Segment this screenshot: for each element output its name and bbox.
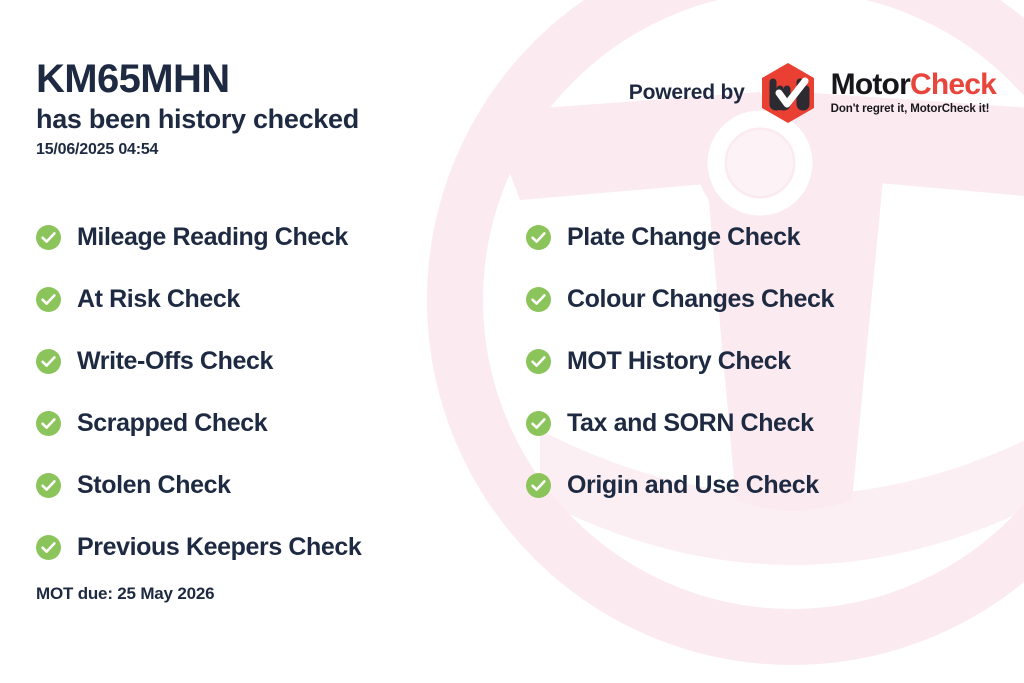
green-circle-check-icon: [36, 349, 61, 374]
list-item: Colour Changes Check: [526, 268, 986, 330]
list-item: Mileage Reading Check: [36, 206, 526, 268]
check-list-left-column: Mileage Reading Check At Risk Check Writ…: [36, 206, 526, 578]
list-item-label: Tax and SORN Check: [567, 409, 814, 438]
list-item-label: Plate Change Check: [567, 223, 800, 252]
powered-by-label: Powered by: [629, 81, 745, 105]
list-item-label: MOT History Check: [567, 347, 791, 376]
list-item-label: Mileage Reading Check: [77, 223, 348, 252]
list-item-label: At Risk Check: [77, 285, 240, 314]
check-lists: Mileage Reading Check At Risk Check Writ…: [36, 206, 988, 578]
green-circle-check-icon: [526, 473, 551, 498]
list-item: Tax and SORN Check: [526, 392, 986, 454]
list-item: Origin and Use Check: [526, 454, 986, 516]
list-item-label: Colour Changes Check: [567, 285, 834, 314]
green-circle-check-icon: [36, 225, 61, 250]
list-item-label: Origin and Use Check: [567, 471, 819, 500]
list-item: Plate Change Check: [526, 206, 986, 268]
list-item: At Risk Check: [36, 268, 526, 330]
list-item-label: Write-Offs Check: [77, 347, 273, 376]
list-item: Scrapped Check: [36, 392, 526, 454]
list-item-label: Previous Keepers Check: [77, 533, 361, 562]
list-item-label: Stolen Check: [77, 471, 231, 500]
page-title-registration: KM65MHN: [36, 58, 359, 100]
green-circle-check-icon: [526, 225, 551, 250]
list-item: Previous Keepers Check: [36, 516, 526, 578]
brand-block: Powered by MotorCheck Don't regret it, M…: [629, 62, 996, 124]
green-circle-check-icon: [526, 349, 551, 374]
wordmark-check: Check: [910, 68, 996, 101]
green-circle-check-icon: [36, 411, 61, 436]
vehicle-history-check-card: KM65MHN has been history checked 15/06/2…: [0, 0, 1024, 683]
list-item-label: Scrapped Check: [77, 409, 267, 438]
list-item: Write-Offs Check: [36, 330, 526, 392]
motorcheck-hexagon-logo-icon: [759, 62, 817, 124]
page-subtitle-status: has been history checked: [36, 104, 359, 135]
green-circle-check-icon: [526, 287, 551, 312]
green-circle-check-icon: [36, 473, 61, 498]
mot-due-label: MOT due: 25 May 2026: [36, 584, 214, 604]
motorcheck-wordmark: MotorCheck Don't regret it, MotorCheck i…: [831, 70, 996, 116]
wordmark-text: MotorCheck: [831, 70, 996, 100]
list-item: MOT History Check: [526, 330, 986, 392]
green-circle-check-icon: [526, 411, 551, 436]
check-list-right-column: Plate Change Check Colour Changes Check …: [526, 206, 986, 578]
wordmark-motor: Motor: [831, 68, 910, 101]
green-circle-check-icon: [36, 535, 61, 560]
check-timestamp: 15/06/2025 04:54: [36, 141, 359, 159]
green-circle-check-icon: [36, 287, 61, 312]
header: KM65MHN has been history checked 15/06/2…: [36, 58, 359, 159]
list-item: Stolen Check: [36, 454, 526, 516]
brand-tagline: Don't regret it, MotorCheck it!: [831, 104, 996, 116]
